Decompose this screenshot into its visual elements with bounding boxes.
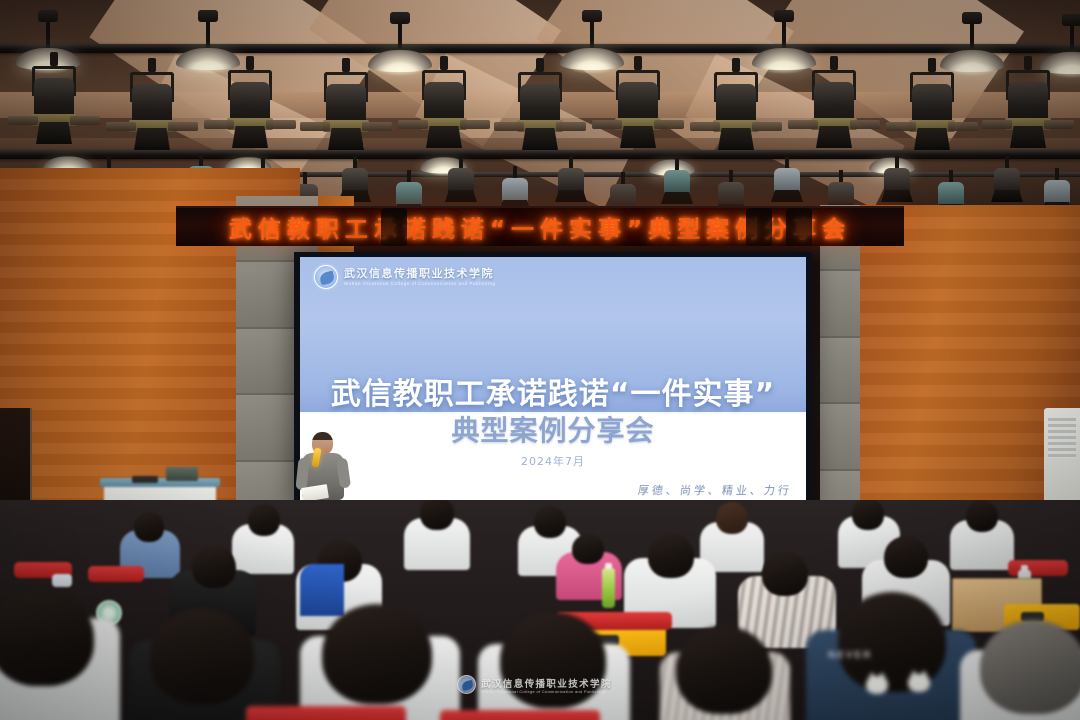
stage-light-fixture [806,62,862,146]
par-can-light [554,162,588,202]
presentation-slide: 武汉信息传播职业技术学院 Wuhan Vocational College of… [300,257,806,505]
par-can-light [990,162,1024,202]
drink-bottle [602,568,615,608]
led-banner: 武信教职工承诺践诺“一件实事”典型案例分享会 [176,206,904,246]
stage-light-fixture [124,64,180,148]
par-can-light [444,162,478,202]
cat-graphic-icon [908,674,930,692]
stage-light-fixture [708,64,764,148]
par-can-light [770,162,804,202]
stage-light-fixture [26,58,82,142]
banner-occlusion [786,208,812,246]
stage-light-fixture [318,64,374,148]
slide-date: 2024年7月 [300,453,806,469]
slide-motto-calligraphy: 厚德、尚学、精业、力行 [637,482,793,498]
lighting-truss-lower [0,150,1080,159]
banner-occlusion [381,208,407,246]
banner-occlusion [746,208,772,246]
audience-area: NEVER [0,500,1080,720]
stage-light-fixture [512,64,568,148]
par-can-light [660,164,694,204]
slide-logo-name-en: Wuhan Vocational College of Communicatio… [344,281,496,286]
par-can-light [880,162,914,202]
stage-light-fixture [416,62,472,146]
auditorium-scene: 武信教职工承诺践诺“一件实事”典型案例分享会 武汉信息传播职业技术学院 Wuha… [0,0,1080,720]
shirt-graphic-text: NEVER [828,650,872,661]
university-crest-icon [314,265,338,289]
slide-university-logo: 武汉信息传播职业技术学院 Wuhan Vocational College of… [314,265,496,289]
stage-light-fixture [222,62,278,146]
projection-screen: 武汉信息传播职业技术学院 Wuhan Vocational College of… [294,252,812,510]
slide-title-line2: 典型案例分享会 [300,409,806,449]
stage-light-fixture [904,64,960,148]
cat-graphic-icon [866,676,888,694]
stage-light-fixture [610,62,666,146]
face-mask [52,574,72,587]
stage-light-fixture [1000,62,1056,146]
slide-logo-name-cn: 武汉信息传播职业技术学院 [344,268,496,281]
slide-title-line1: 武信教职工承诺践诺“一件实事” [300,369,806,413]
lighting-truss-upper [0,44,1080,53]
